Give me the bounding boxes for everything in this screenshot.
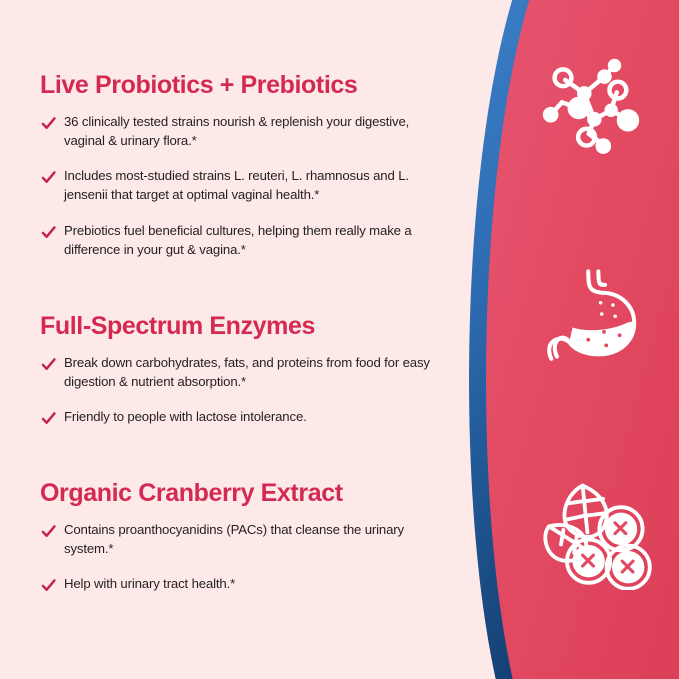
bullet-list: 36 clinically tested strains nourish & r… bbox=[40, 113, 440, 259]
list-item: Friendly to people with lactose intolera… bbox=[40, 408, 440, 427]
check-icon bbox=[40, 115, 57, 132]
section-full-spectrum-enzymes: Full-Spectrum Enzymes Break down carbohy… bbox=[40, 313, 440, 427]
list-item: Includes most-studied strains L. reuteri… bbox=[40, 167, 440, 204]
list-item-text: Friendly to people with lactose intolera… bbox=[64, 408, 307, 427]
check-icon bbox=[40, 224, 57, 241]
section-heading: Live Probiotics + Prebiotics bbox=[40, 72, 440, 99]
list-item-text: Help with urinary tract health.* bbox=[64, 575, 235, 594]
bullet-list: Break down carbohydrates, fats, and prot… bbox=[40, 354, 440, 427]
list-item-text: 36 clinically tested strains nourish & r… bbox=[64, 113, 440, 150]
section-organic-cranberry-extract: Organic Cranberry Extract Contains proan… bbox=[40, 480, 440, 594]
cranberry-icon bbox=[537, 470, 657, 590]
section-live-probiotics-prebiotics: Live Probiotics + Prebiotics 36 clinical… bbox=[40, 72, 440, 259]
list-item-text: Contains proanthocyanidins (PACs) that c… bbox=[64, 521, 440, 558]
list-item: Prebiotics fuel beneficial cultures, hel… bbox=[40, 222, 440, 259]
list-item-text: Prebiotics fuel beneficial cultures, hel… bbox=[64, 222, 440, 259]
stomach-icon bbox=[539, 258, 651, 370]
list-item-text: Includes most-studied strains L. reuteri… bbox=[64, 167, 440, 204]
check-icon bbox=[40, 169, 57, 186]
benefits-content-column: Live Probiotics + Prebiotics 36 clinical… bbox=[40, 0, 440, 679]
molecule-icon bbox=[535, 52, 647, 164]
check-icon bbox=[40, 410, 57, 427]
list-item: Help with urinary tract health.* bbox=[40, 575, 440, 594]
list-item-text: Break down carbohydrates, fats, and prot… bbox=[64, 354, 440, 391]
check-icon bbox=[40, 523, 57, 540]
product-benefits-poster: Live Probiotics + Prebiotics 36 clinical… bbox=[0, 0, 679, 679]
list-item: 36 clinically tested strains nourish & r… bbox=[40, 113, 440, 150]
list-item: Contains proanthocyanidins (PACs) that c… bbox=[40, 521, 440, 558]
section-heading: Full-Spectrum Enzymes bbox=[40, 313, 440, 340]
check-icon bbox=[40, 577, 57, 594]
list-item: Break down carbohydrates, fats, and prot… bbox=[40, 354, 440, 391]
bullet-list: Contains proanthocyanidins (PACs) that c… bbox=[40, 521, 440, 594]
check-icon bbox=[40, 356, 57, 373]
section-heading: Organic Cranberry Extract bbox=[40, 480, 440, 507]
